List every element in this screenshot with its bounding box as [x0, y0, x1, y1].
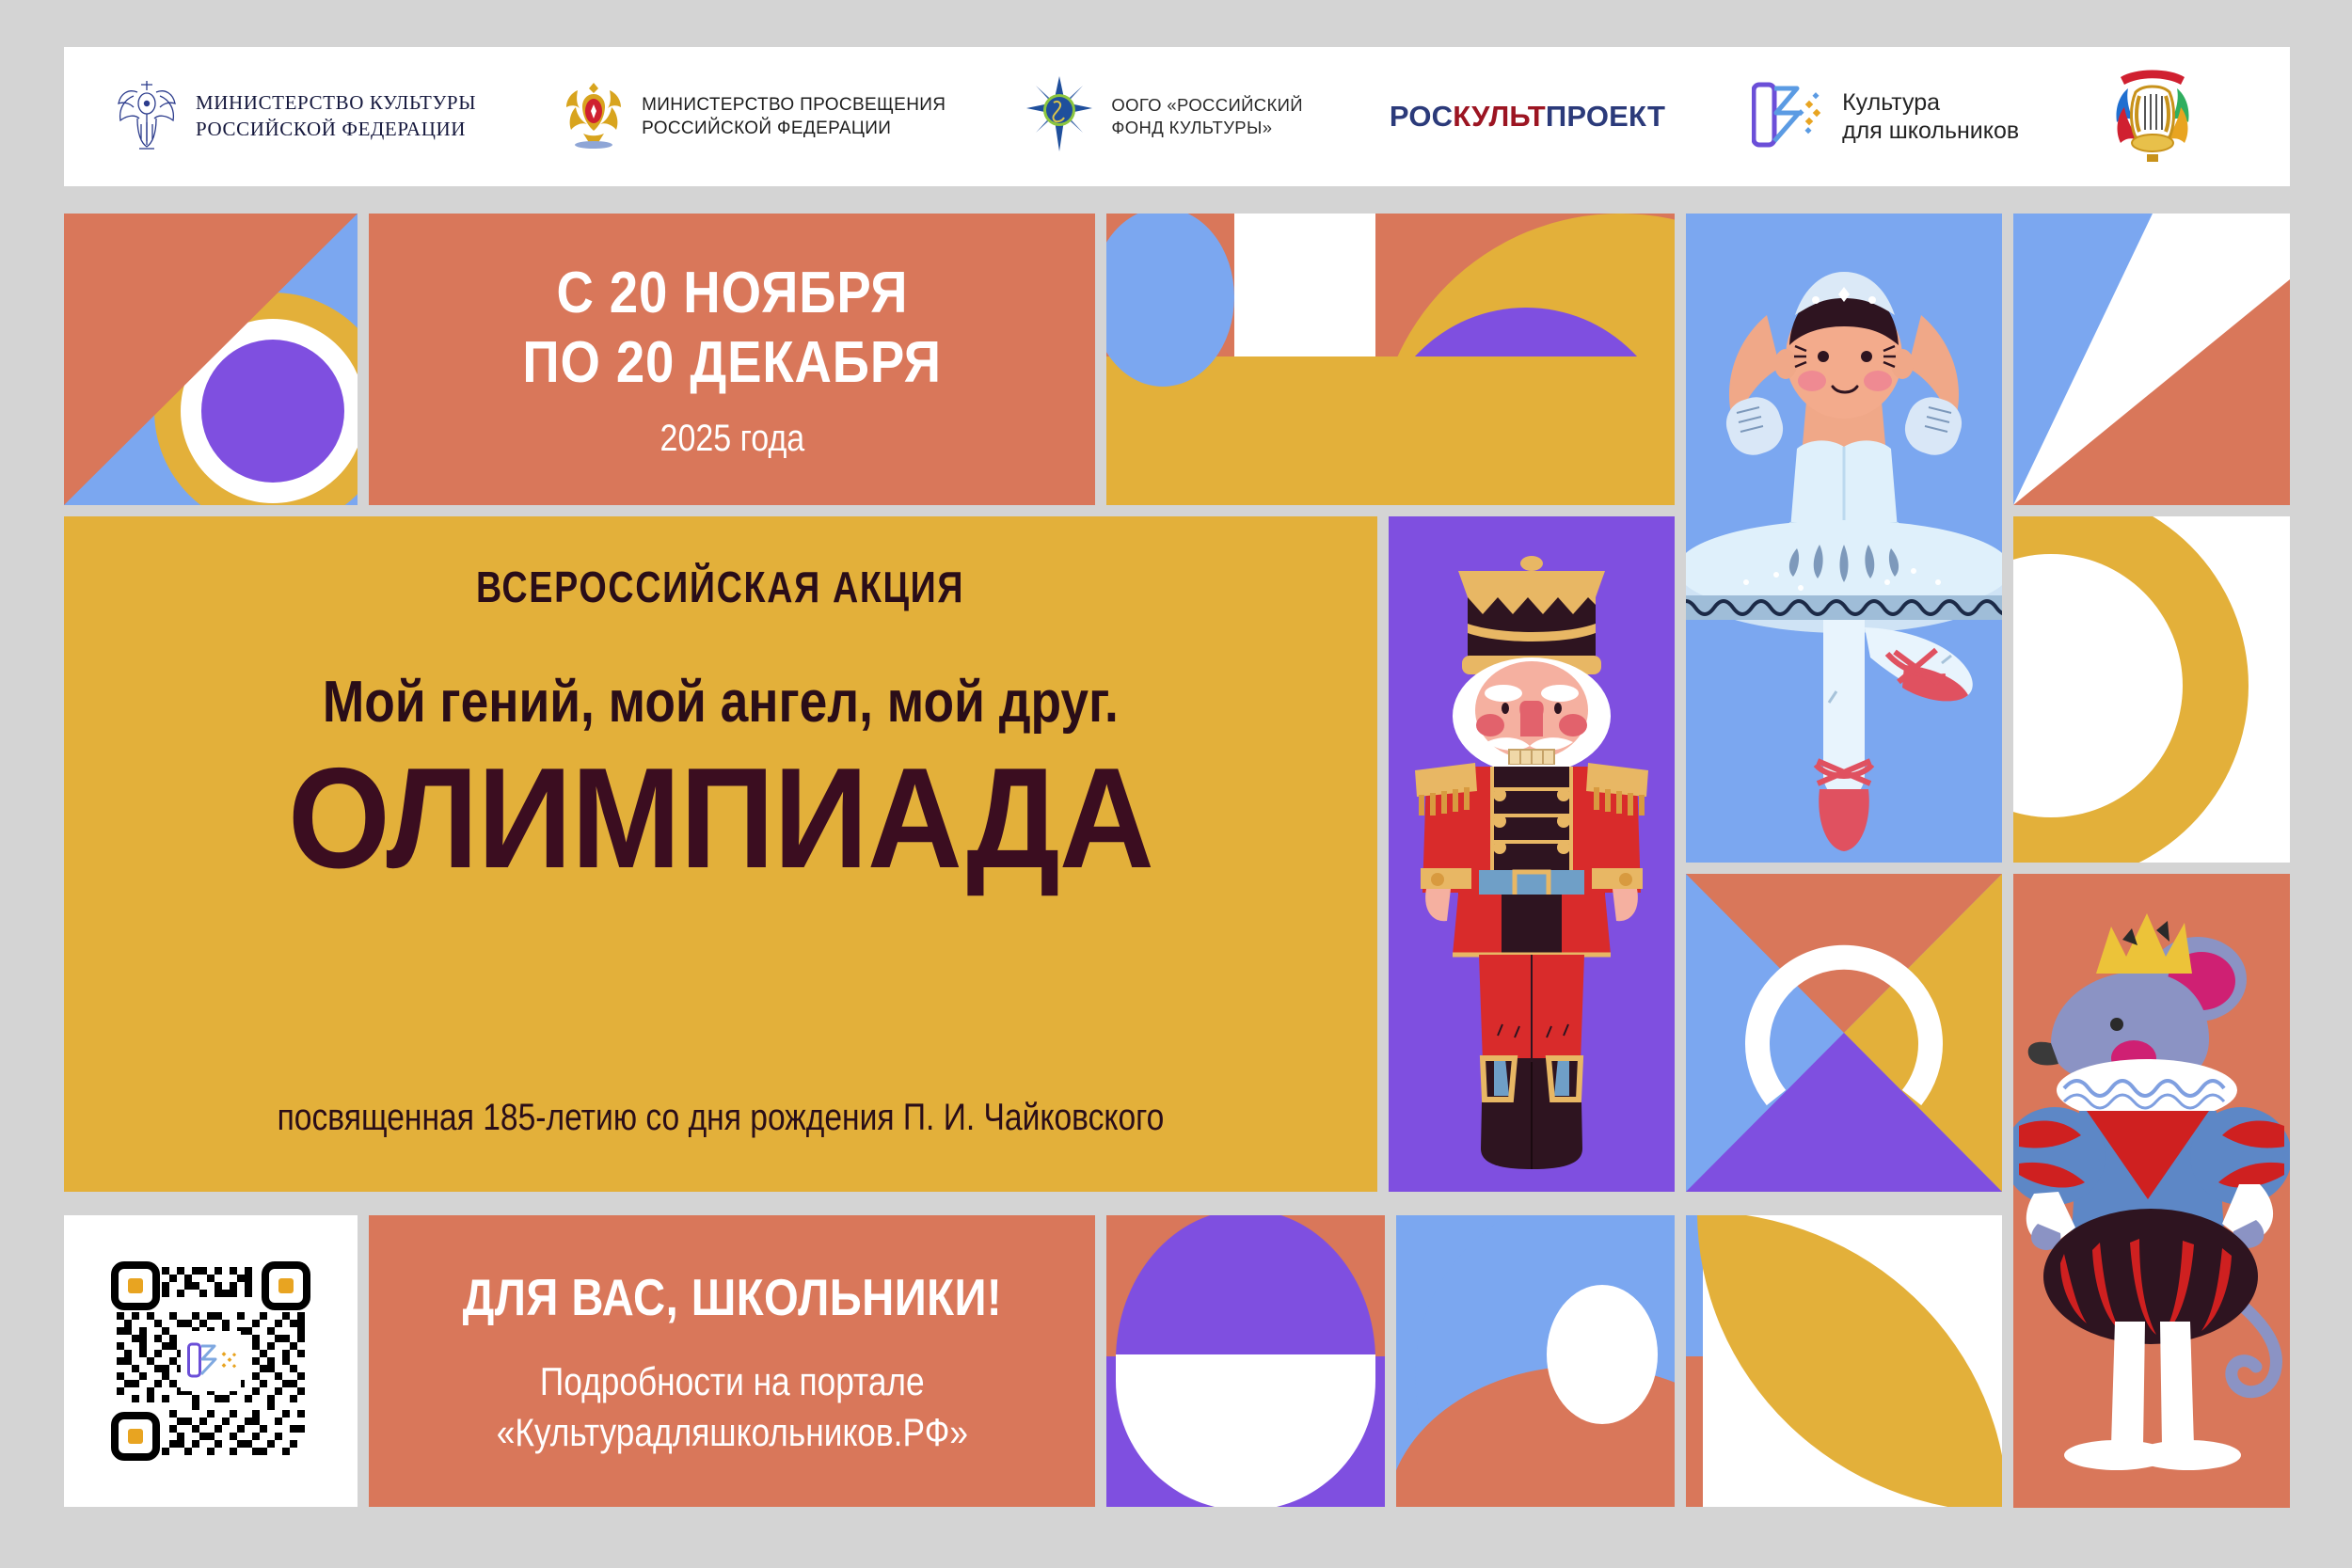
cta-heading: ДЛЯ ВАС, ШКОЛЬНИКИ! [462, 1267, 1001, 1327]
white-square [1234, 214, 1375, 356]
salmon-triangle [64, 214, 358, 505]
arcs-and-circle-tile [1106, 214, 1675, 505]
half-circle-tile [1106, 1215, 1385, 1507]
logo-rfk: ООГО «РОССИЙСКИЙ ФОНД КУЛЬТУРЫ» [1025, 47, 1303, 186]
white-dot [1547, 1285, 1658, 1424]
slogan-text: Мой гений, мой ангел, мой друг. [323, 669, 1119, 736]
page-title: ОЛИМПИАДА [288, 747, 1153, 890]
logo-bar: МИНИСТЕРСТВО КУЛЬТУРЫ РОССИЙСКОЙ ФЕДЕРАЦ… [64, 47, 2290, 186]
nutcracker-illustration [1389, 516, 1675, 1192]
kdsh-book-logo-icon [1752, 79, 1825, 155]
ballerina-illustration [1686, 214, 2002, 863]
main-title-block: ВСЕРОССИЙСКАЯ АКЦИЯ Мой гений, мой ангел… [64, 516, 1377, 1192]
date-line-1: С 20 НОЯБРЯ [556, 259, 908, 327]
logo-minprosvescheniya: МИНИСТЕРСТВО ПРОСВЕЩЕНИЯ РОССИЙСКОЙ ФЕДЕ… [563, 47, 946, 186]
leaf-shape-tile [1686, 1215, 2002, 1507]
cta-block: ДЛЯ ВАС, ШКОЛЬНИКИ! Подробности на порта… [369, 1215, 1095, 1507]
double-headed-eagle-lyre-emblem-icon [115, 75, 179, 159]
qr-block[interactable] [64, 1215, 358, 1507]
kicker-text: ВСЕРОССИЙСКАЯ АКЦИЯ [476, 562, 964, 612]
logo-minkultury: МИНИСТЕРСТВО КУЛЬТУРЫ РОССИЙСКОЙ ФЕДЕРАЦ… [115, 47, 476, 186]
music-school-lyre-emblem-icon [2107, 64, 2198, 170]
roskultproekt-wordmark: РОСКУЛЬТПРОЕКТ [1390, 100, 1665, 134]
concentric-circles-tile [64, 214, 358, 505]
salmon-triangle [2013, 279, 2290, 505]
salmon-strip [1686, 1356, 1703, 1507]
date-year: 2025 года [660, 418, 804, 460]
logo-minkultury-label: МИНИСТЕРСТВО КУЛЬТУРЫ РОССИЙСКОЙ ФЕДЕРАЦ… [196, 90, 476, 142]
star-medal-emblem-icon [1025, 74, 1094, 160]
dedication-text: посвященная 185-летию со дня рождения П.… [169, 1097, 1273, 1139]
date-line-2: ПО 20 ДЕКАБРЯ [522, 328, 942, 397]
circle-dot-tile [1396, 1215, 1675, 1507]
qr-code[interactable] [109, 1259, 312, 1463]
yellow-leaf [1697, 1215, 2002, 1507]
cta-line-2[interactable]: «Культурадляшкольников.РФ» [496, 1410, 967, 1455]
four-triangles-ring-tile [1686, 874, 2002, 1192]
poster-root: МИНИСТЕРСТВО КУЛЬТУРЫ РОССИЙСКОЙ ФЕДЕРАЦ… [0, 0, 2352, 1568]
triangles-tile [2013, 214, 2290, 505]
white-ring-arc [1686, 874, 2002, 1192]
cta-line-1: Подробности на портале [540, 1359, 925, 1404]
logo-rfk-label: ООГО «РОССИЙСКИЙ ФОНД КУЛЬТУРЫ» [1111, 94, 1303, 140]
logo-kultura-dlya-shkolnikov: Культура для школьников [1752, 47, 2019, 186]
mouse-king-illustration [2013, 874, 2290, 1508]
date-block: С 20 НОЯБРЯ ПО 20 ДЕКАБРЯ 2025 года [369, 214, 1095, 505]
logo-kdsh-label: Культура для школьников [1842, 88, 2019, 146]
white-half-circle [1116, 1354, 1375, 1507]
logo-minprosvescheniya-label: МИНИСТЕРСТВО ПРОСВЕЩЕНИЯ РОССИЙСКОЙ ФЕДЕ… [642, 93, 946, 140]
yellow-arc-tile [2013, 516, 2290, 863]
logo-roskultproekt: РОСКУЛЬТПРОЕКТ [1390, 47, 1665, 186]
russian-coat-of-arms-icon [563, 75, 625, 159]
logo-dshi-tchaikovsky [2107, 47, 2198, 186]
